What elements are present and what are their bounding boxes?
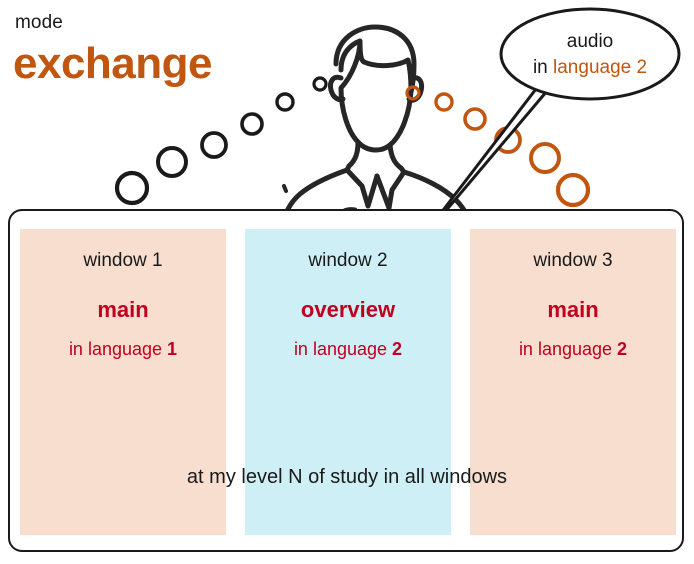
window-3-kind: main bbox=[470, 297, 676, 323]
windows-panel: window 1 main in language 1 window 2 ove… bbox=[8, 209, 684, 552]
window-column-3[interactable]: window 3 main in language 2 bbox=[470, 229, 676, 535]
black-bubble-trail bbox=[117, 78, 326, 203]
window-1-title: window 1 bbox=[20, 249, 226, 273]
window-column-1[interactable]: window 1 main in language 1 bbox=[20, 229, 226, 535]
window-3-title: window 3 bbox=[470, 249, 676, 273]
window-2-language-number: 2 bbox=[392, 339, 402, 359]
window-column-2[interactable]: window 2 overview in language 2 bbox=[245, 229, 451, 535]
window-2-language-prefix: in language bbox=[294, 339, 392, 359]
window-2-title: window 2 bbox=[245, 249, 451, 273]
window-1-language-number: 1 bbox=[167, 339, 177, 359]
window-3-language-number: 2 bbox=[617, 339, 627, 359]
window-3-language: in language 2 bbox=[470, 338, 676, 360]
window-1-kind: main bbox=[20, 297, 226, 323]
speech-bubble-outline bbox=[498, 6, 682, 102]
window-3-language-prefix: in language bbox=[519, 339, 617, 359]
windows-row: window 1 main in language 1 window 2 ove… bbox=[20, 229, 676, 535]
audio-speech-bubble: audio in language 2 bbox=[498, 6, 682, 102]
window-1-language: in language 1 bbox=[20, 338, 226, 360]
window-2-language: in language 2 bbox=[245, 338, 451, 360]
window-1-language-prefix: in language bbox=[69, 339, 167, 359]
window-2-kind: overview bbox=[245, 297, 451, 323]
